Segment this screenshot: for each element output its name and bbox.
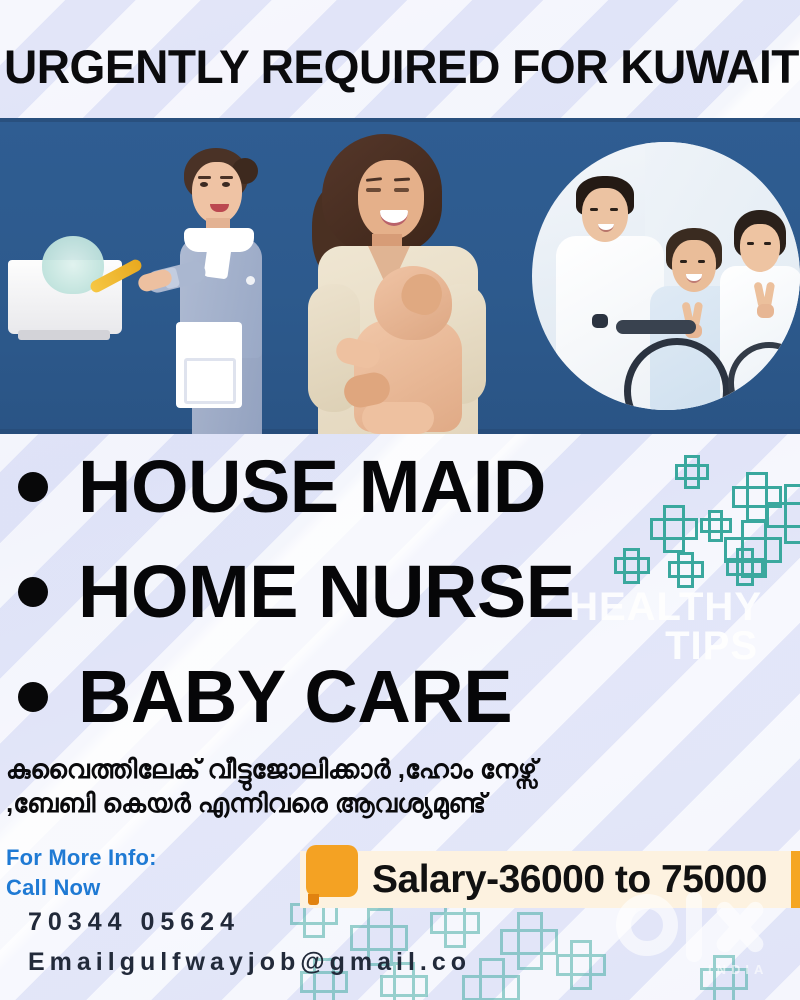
baby-legs (362, 402, 434, 434)
bullet-icon (18, 682, 48, 712)
elderly-woman-eye-left (680, 260, 687, 263)
bullet-icon (18, 472, 48, 502)
maid-figure (140, 146, 300, 434)
healthy-tips-watermark: HEALTHY TIPS (532, 588, 762, 666)
olx-india-label: INDIA (708, 962, 768, 977)
mother-eye-left (366, 188, 381, 192)
olx-letter-x (710, 898, 772, 956)
watermark-healthy-text: HEALTHY (532, 588, 762, 627)
maid-eye-left (200, 182, 208, 187)
male-caregiver-eye-left (590, 208, 598, 211)
olx-letter-o (616, 894, 678, 956)
female-nurse-eye-right (764, 242, 771, 245)
maid-face (192, 162, 242, 224)
peace-sign-hand-nurse (756, 282, 774, 316)
malayalam-line-1: കുവൈത്തിലേക് വീട്ടുജോലിക്കാർ ,ഹോം നേഴ്സ് (6, 752, 766, 786)
house-maid-photo (0, 118, 330, 434)
mother-eye-right (394, 188, 409, 192)
male-caregiver-eye-right (610, 208, 618, 211)
maid-brow-right (220, 176, 233, 179)
maid-button (246, 276, 255, 285)
job-title: HOUSE MAID (78, 450, 546, 524)
email-address[interactable]: Emailgulfwayjob@gmail.co (28, 948, 476, 977)
mother-face (358, 160, 424, 240)
caregivers-circle-photo (532, 142, 800, 410)
wheelchair-armrest (616, 320, 696, 334)
maid-eye-right (222, 182, 230, 187)
elderly-woman-face (672, 240, 716, 292)
job-title: BABY CARE (78, 660, 512, 734)
phone-number[interactable]: 70344 05624 (28, 908, 476, 937)
female-nurse-eye-left (747, 242, 754, 245)
bullet-icon (18, 577, 48, 607)
maid-brow-left (198, 176, 211, 179)
salary-banner-edge (791, 851, 800, 908)
malayalam-description: കുവൈത്തിലേക് വീട്ടുജോലിക്കാർ ,ഹോം നേഴ്സ്… (6, 752, 766, 821)
wheelchair-handle (592, 314, 608, 328)
mother-and-baby-photo (296, 134, 516, 434)
male-caregiver-face (582, 188, 628, 242)
job-title: HOME NURSE (78, 555, 575, 629)
page-title: URGENTLY REQUIRED FOR KUWAIT (4, 29, 799, 90)
list-item: HOUSE MAID (0, 434, 800, 539)
job-advertisement-poster: URGENTLY REQUIRED FOR KUWAIT (0, 0, 800, 1000)
elderly-woman-eye-right (698, 260, 705, 263)
photo-collage-band (0, 118, 800, 434)
watermark-tips-text: TIPS (532, 627, 762, 666)
malayalam-line-2: ,ബേബി കെയർ എന്നിവരെ ആവശ്യമുണ്ട് (6, 786, 766, 820)
lamp-base (18, 330, 110, 340)
olx-watermark: INDIA (612, 892, 792, 988)
olx-letter-l (686, 892, 702, 962)
poster-header: URGENTLY REQUIRED FOR KUWAIT (0, 0, 800, 118)
female-nurse-face (740, 224, 780, 272)
bookmark-icon (306, 845, 358, 897)
maid-apron-pocket (184, 358, 236, 404)
